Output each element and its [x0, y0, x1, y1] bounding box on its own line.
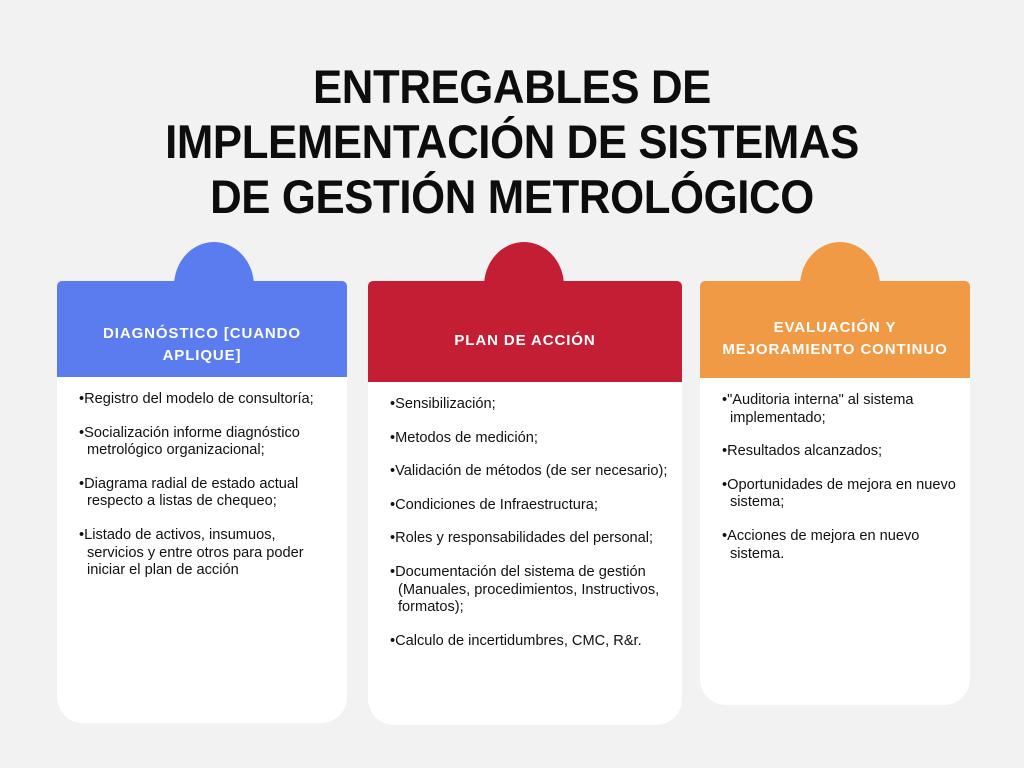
card-body-plan: •Sensibilización; •Metodos de medición; …: [368, 382, 682, 725]
list-item: •"Auditoria interna" al sistema implemen…: [722, 392, 958, 427]
list-item: •Sensibilización;: [390, 396, 670, 414]
card-header-title-plan: PLAN DE ACCIÓN: [454, 330, 595, 352]
list-item: •Condiciones de Infraestructura;: [390, 497, 670, 515]
list-item: •Registro del modelo de consultoría;: [79, 391, 335, 409]
card-tab-plan: [484, 242, 564, 286]
list-item: •Acciones de mejora en nuevo sistema.: [722, 528, 958, 563]
card-tab-evaluacion: [800, 242, 880, 286]
list-item: •Listado de activos, insumuos, servicios…: [79, 527, 335, 580]
page-title: ENTREGABLES DE IMPLEMENTACIÓN DE SISTEMA…: [36, 59, 988, 224]
list-item: •Resultados alcanzados;: [722, 443, 958, 461]
list-item: •Documentación del sistema de gestión (M…: [390, 564, 670, 617]
list-item: •Metodos de medición;: [390, 430, 670, 448]
card-tab-diagnostico: [174, 242, 254, 286]
card-header-title-evaluacion: EVALUACIÓN Y MEJORAMIENTO CONTINUO: [708, 317, 962, 361]
list-item: •Validación de métodos (de ser necesario…: [390, 463, 670, 481]
card-body-evaluacion: •"Auditoria interna" al sistema implemen…: [700, 378, 970, 705]
list-item: •Calculo de incertidumbres, CMC, R&r.: [390, 633, 670, 651]
card-header-title-diagnostico: DIAGNÓSTICO [CUANDO APLIQUE]: [65, 323, 339, 367]
list-item: •Diagrama radial de estado actual respec…: [79, 476, 335, 511]
card-body-diagnostico: •Registro del modelo de consultoría; •So…: [57, 377, 347, 723]
list-item: •Oportunidades de mejora en nuevo sistem…: [722, 477, 958, 512]
list-item: •Roles y responsabilidades del personal;: [390, 530, 670, 548]
list-item: •Socialización informe diagnóstico metro…: [79, 425, 335, 460]
